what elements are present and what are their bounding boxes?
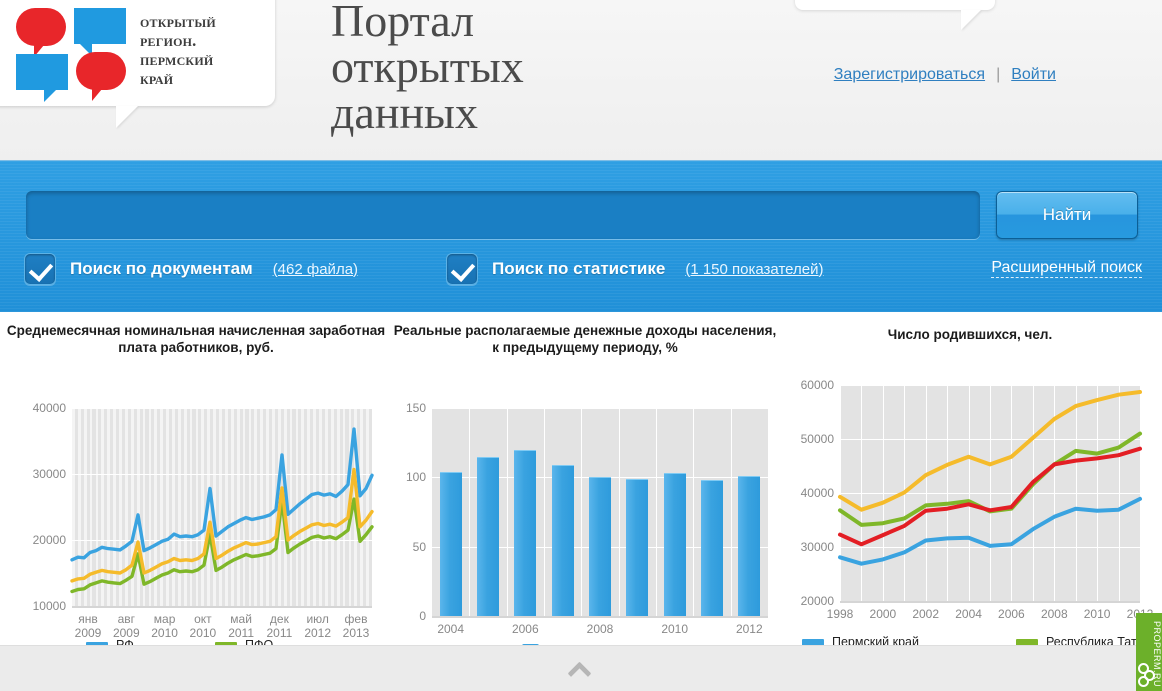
grid-line-horizontal	[432, 408, 768, 409]
auth-separator: |	[996, 66, 1000, 84]
bar[interactable]	[514, 450, 536, 616]
page-root: Открытый регион. Пермский край Портал от…	[0, 0, 1162, 691]
chart-incomes[interactable]: Реальные располагаемые денежные доходы н…	[392, 312, 778, 645]
bar[interactable]	[552, 465, 574, 616]
auth-links: Зарегистрироваться | Войти	[834, 66, 1056, 84]
statistics-count-link[interactable]: (1 150 показателей)	[685, 261, 823, 278]
x-axis-tick: янв2009	[75, 612, 102, 640]
watermark: PROPERM.RU	[1136, 613, 1162, 691]
logo-line-1: Открытый	[140, 12, 216, 31]
chart-incomes-title: Реальные располагаемые денежные доходы н…	[392, 312, 778, 356]
site-logo[interactable]: Открытый регион. Пермский край	[16, 8, 216, 94]
chart-births[interactable]: Число родившихся, чел. 20000300004000050…	[778, 312, 1162, 645]
charts-section: Среднемесячная номинальная начисленная з…	[0, 312, 1162, 645]
site-header: Открытый регион. Пермский край Портал от…	[0, 0, 1162, 160]
x-axis-tick: дек2011	[266, 612, 292, 640]
x-axis-tick: 2008	[587, 622, 614, 636]
checkbox-search-documents[interactable]	[24, 253, 56, 285]
advanced-search-link[interactable]: Расширенный поиск	[991, 259, 1142, 278]
chart-salary-title: Среднемесячная номинальная начисленная з…	[0, 312, 392, 356]
x-axis-tick: июл2012	[304, 612, 331, 640]
checkbox-search-statistics[interactable]	[446, 253, 478, 285]
grid-line-vertical	[507, 408, 508, 616]
x-axis-tick: авг2009	[113, 612, 140, 640]
bar[interactable]	[626, 479, 648, 616]
bar[interactable]	[477, 457, 499, 617]
documents-count-link[interactable]: (462 файла)	[273, 261, 358, 278]
grid-line-vertical	[619, 408, 620, 616]
series-lines	[0, 356, 382, 616]
option-search-statistics[interactable]: Поиск по статистике (1 150 показателей)	[446, 253, 823, 285]
x-axis-tick: 2010	[661, 622, 688, 636]
scroll-to-top-icon[interactable]	[566, 658, 596, 678]
option-label-statistics: Поиск по статистике	[492, 259, 665, 279]
search-input[interactable]	[26, 191, 980, 239]
bar[interactable]	[701, 480, 723, 616]
chart-births-title: Число родившихся, чел.	[778, 312, 1162, 343]
search-button[interactable]: Найти	[996, 191, 1138, 239]
option-search-documents[interactable]: Поиск по документам (462 файла)	[24, 253, 358, 285]
y-axis-tick: 50	[396, 540, 426, 554]
x-axis-tick: окт2010	[190, 612, 217, 640]
page-title: Портал открытых данных	[331, 0, 661, 136]
search-options: Поиск по документам (462 файла) Поиск по…	[24, 253, 1142, 293]
grid-line-vertical	[693, 408, 694, 616]
x-axis-tick: 2006	[998, 607, 1025, 621]
grid-line-vertical	[469, 408, 470, 616]
series-2-line	[840, 392, 1140, 510]
logo-line-4: край	[140, 69, 216, 88]
x-axis-tick: мар2010	[151, 612, 178, 640]
x-axis-line	[432, 616, 768, 618]
y-axis-tick: 0	[396, 609, 426, 623]
logo-line-3: Пермский	[140, 50, 216, 69]
series-2-line	[72, 469, 372, 581]
option-label-documents: Поиск по документам	[70, 259, 253, 279]
logo-text: Открытый регион. Пермский край	[140, 8, 216, 88]
search-row: Найти	[26, 191, 1138, 239]
logo-line-2: регион.	[140, 31, 216, 50]
grid-line-vertical	[544, 408, 545, 616]
grid-line-vertical	[656, 408, 657, 616]
x-axis-tick: 2008	[1041, 607, 1068, 621]
x-axis-tick: 1998	[827, 607, 854, 621]
x-axis-tick: 2002	[912, 607, 939, 621]
x-axis-tick: 2006	[512, 622, 539, 636]
x-axis-tick: фев2013	[343, 612, 370, 640]
series-1-line	[72, 499, 372, 591]
speech-bubbles-icon	[16, 8, 126, 94]
register-link[interactable]: Зарегистрироваться	[834, 66, 985, 84]
chart-salary[interactable]: Среднемесячная номинальная начисленная з…	[0, 312, 392, 645]
bar[interactable]	[589, 477, 611, 616]
bar[interactable]	[664, 473, 686, 616]
site-footer	[0, 645, 1162, 691]
y-axis-tick: 100	[396, 470, 426, 484]
bar[interactable]	[440, 472, 462, 616]
logo-callout: Открытый регион. Пермский край	[0, 0, 275, 106]
bar[interactable]	[738, 476, 760, 616]
y-axis-tick: 150	[396, 401, 426, 415]
grid-line-vertical	[731, 408, 732, 616]
x-axis-tick: 2004	[437, 622, 464, 636]
login-link[interactable]: Войти	[1011, 66, 1056, 84]
x-axis-tick: 2000	[870, 607, 897, 621]
grid-line-vertical	[581, 408, 582, 616]
search-band: Найти Поиск по документам (462 файла) По…	[0, 160, 1162, 312]
x-axis-tick: 2004	[955, 607, 982, 621]
top-right-callout	[795, 0, 995, 10]
series-lines	[778, 343, 1150, 611]
x-axis-tick: 2010	[1084, 607, 1111, 621]
x-axis-tick: 2012	[736, 622, 763, 636]
series-0-line	[72, 429, 372, 560]
x-axis-tick: май2011	[228, 612, 254, 640]
properm-rings-icon	[1137, 661, 1161, 687]
